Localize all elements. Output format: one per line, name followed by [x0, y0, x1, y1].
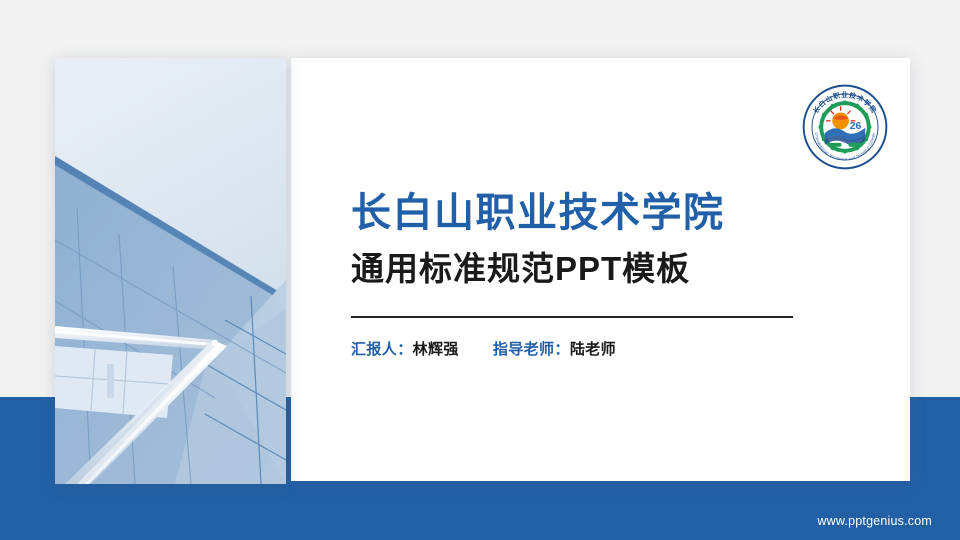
byline: 汇报人：林辉强指导老师：陆老师 — [351, 338, 616, 359]
title-block: 长白山职业技术学院 通用标准规范PPT模板 — [351, 190, 871, 289]
presentation-slide: 长白山职业技术学院 Changbaishan Vocational and Te… — [0, 0, 960, 540]
svg-text:26: 26 — [850, 120, 862, 132]
page-subtitle: 通用标准规范PPT模板 — [351, 249, 871, 289]
college-logo: 长白山职业技术学院 Changbaishan Vocational and Te… — [801, 83, 889, 171]
page-title: 长白山职业技术学院 — [351, 190, 871, 237]
presenter-label: 汇报人： — [351, 341, 413, 358]
footer-url[interactable]: www.pptgenius.com — [817, 514, 932, 528]
architecture-photo — [55, 58, 286, 484]
title-divider — [351, 316, 793, 318]
advisor-label: 指导老师： — [493, 341, 570, 358]
presenter-name: 林辉强 — [413, 341, 459, 358]
advisor-name: 陆老师 — [570, 341, 616, 358]
